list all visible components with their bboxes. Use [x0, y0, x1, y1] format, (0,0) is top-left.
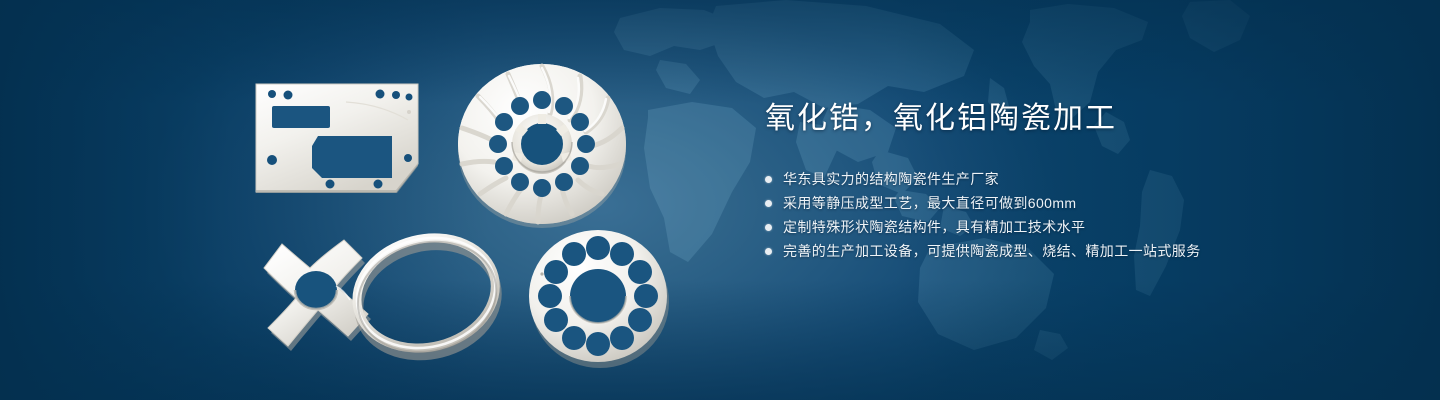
feature-text: 华东具实力的结构陶瓷件生产厂家 [783, 172, 999, 187]
ceramic-ring [348, 226, 528, 366]
ceramic-perforated-disc [522, 224, 682, 374]
product-image-cluster [0, 0, 720, 400]
bullet-dot-icon [765, 176, 772, 183]
list-item: 采用等静压成型工艺，最大直径可做到600mm [765, 196, 1385, 211]
feature-text: 采用等静压成型工艺，最大直径可做到600mm [783, 196, 1076, 211]
feature-list: 华东具实力的结构陶瓷件生产厂家 采用等静压成型工艺，最大直径可做到600mm 定… [765, 172, 1385, 259]
bullet-dot-icon [765, 200, 772, 207]
product-banner: 氧化锆，氧化铝陶瓷加工 华东具实力的结构陶瓷件生产厂家 采用等静压成型工艺，最大… [0, 0, 1440, 400]
bullet-dot-icon [765, 224, 772, 231]
page-title: 氧化锆，氧化铝陶瓷加工 [765, 104, 1385, 134]
list-item: 定制特殊形状陶瓷结构件，具有精加工技术水平 [765, 220, 1385, 235]
bullet-dot-icon [765, 248, 772, 255]
ceramic-impeller-disc [452, 52, 632, 232]
feature-text: 定制特殊形状陶瓷结构件，具有精加工技术水平 [783, 220, 1085, 235]
list-item: 华东具实力的结构陶瓷件生产厂家 [765, 172, 1385, 187]
list-item: 完善的生产加工设备，可提供陶瓷成型、烧结、精加工一站式服务 [765, 244, 1385, 259]
feature-text: 完善的生产加工设备，可提供陶瓷成型、烧结、精加工一站式服务 [783, 244, 1201, 259]
banner-copy: 氧化锆，氧化铝陶瓷加工 华东具实力的结构陶瓷件生产厂家 采用等静压成型工艺，最大… [765, 104, 1385, 268]
ceramic-plate-cutout [250, 80, 450, 200]
